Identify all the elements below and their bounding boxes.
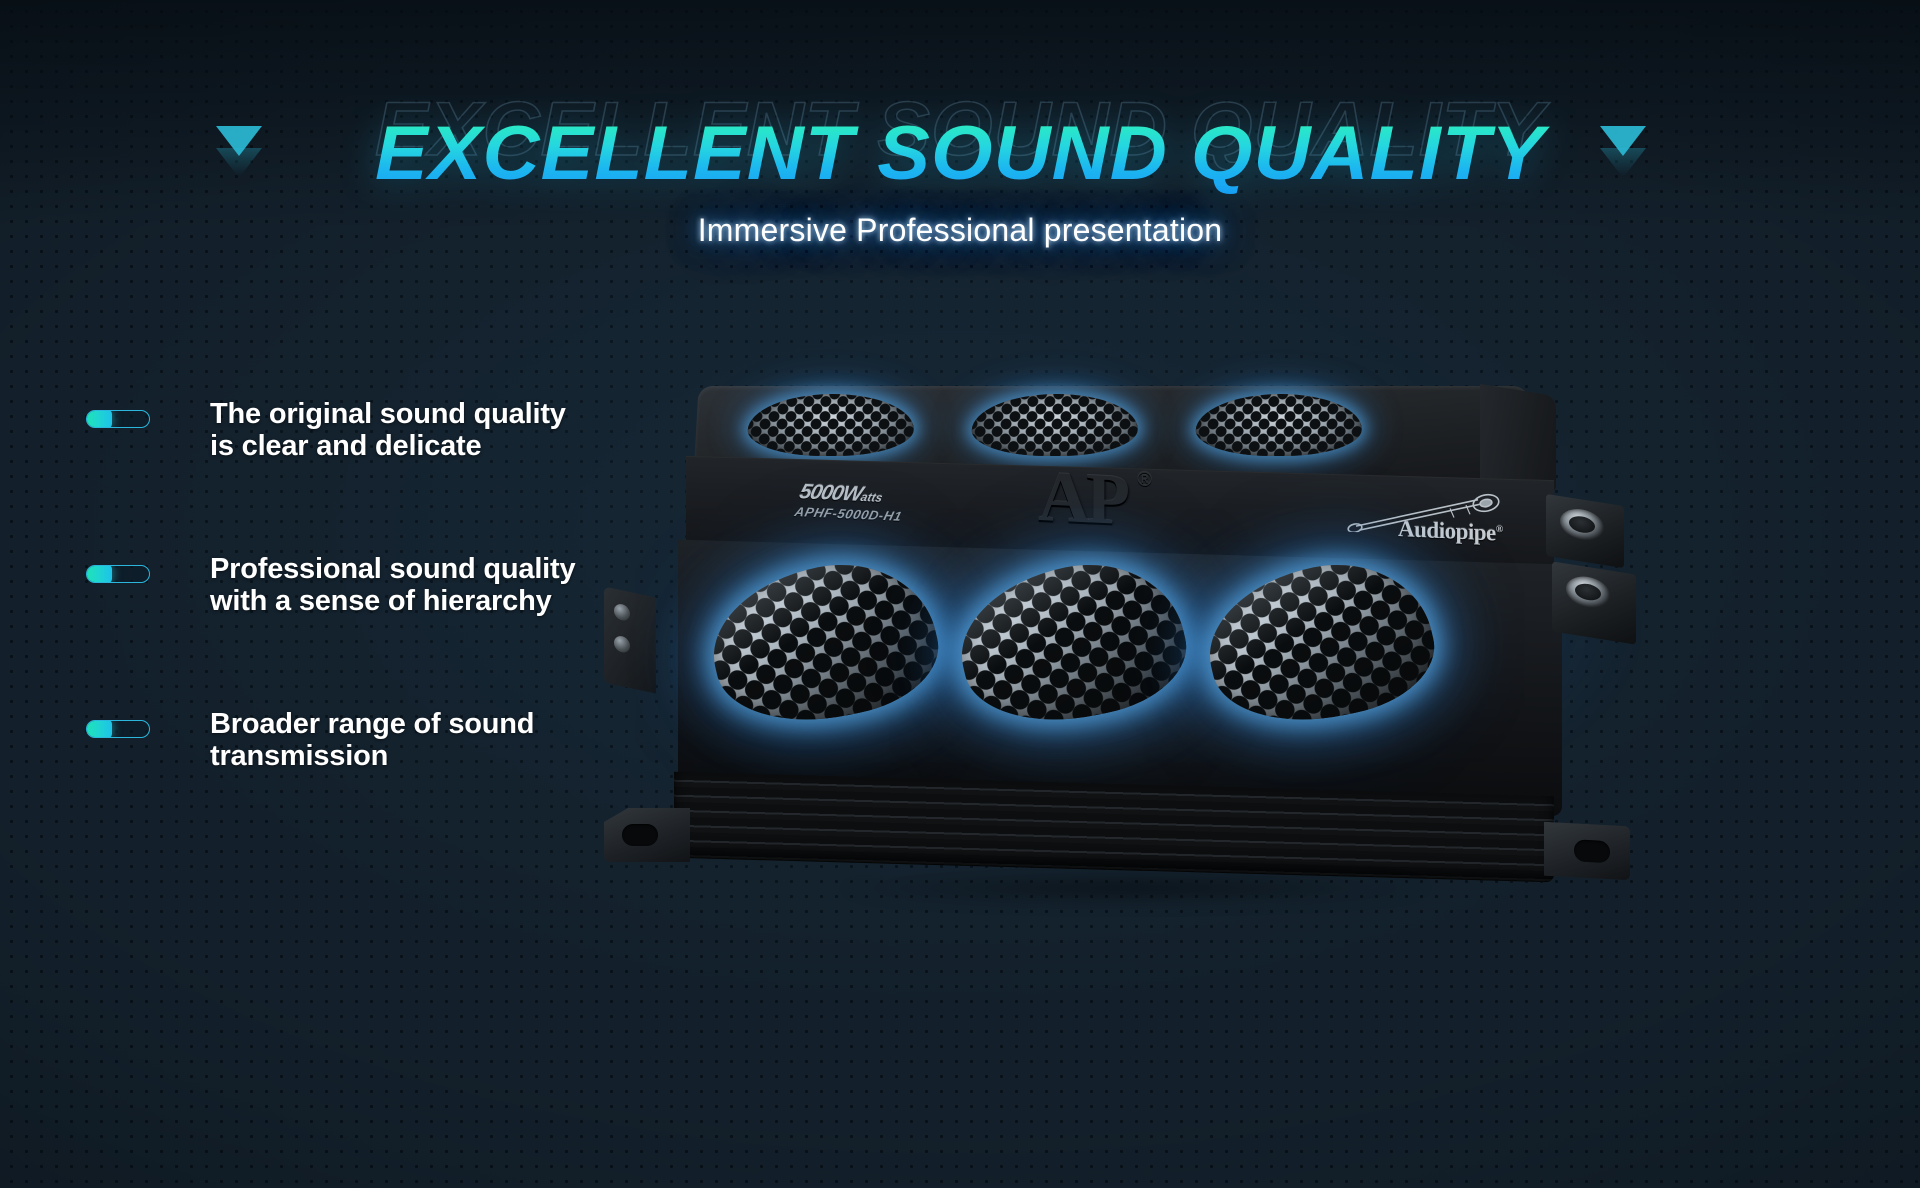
mounting-slot [622,824,658,846]
feature-item: Broader range of sound transmission [0,708,700,773]
power-terminal-icon [1552,561,1636,644]
pill-fill [86,720,112,738]
brand-wordmark-text: Audiopipe® [1398,516,1503,547]
feature-list: The original sound quality is clear and … [0,398,700,773]
brand-mark-ap: AP ® [1038,460,1126,536]
honeycomb-grille-icon [970,394,1139,456]
brand-wordmark-label: Audiopipe [1398,516,1496,545]
feature-line-1: The original sound quality [210,398,566,430]
power-terminal-icon [1546,494,1624,568]
power-rating-value: 5000W [797,480,864,506]
feature-line-2: with a sense of hierarchy [210,585,575,617]
chevron-down-icon [216,148,262,178]
feature-line-1: Broader range of sound [210,708,534,740]
honeycomb-holes [970,394,1139,456]
pill-progress-icon [86,720,150,738]
power-rating-block: 5000Watts APHF-5000D-H1 [793,481,909,523]
product-drop-shadow [720,868,1550,908]
feature-text: The original sound quality is clear and … [210,398,566,463]
honeycomb-holes [746,394,915,456]
chevron-down-icon [1600,148,1646,178]
brand-mark-text: AP [1038,460,1126,536]
feature-line-1: Professional sound quality [210,553,575,585]
amplifier-chassis: 5000Watts APHF-5000D-H1 AP ® [600,372,1920,902]
registered-trademark-icon: ® [1496,524,1503,535]
feature-line-2: is clear and delicate [210,430,566,462]
mounting-foot-right [1544,822,1630,881]
feature-item: Professional sound quality with a sense … [0,553,700,618]
feature-line-2: transmission [210,740,534,772]
terminal-screw [1560,506,1604,543]
feature-item: The original sound quality is clear and … [0,398,700,463]
honeycomb-grille-icon [1194,394,1363,456]
feature-text: Professional sound quality with a sense … [210,553,575,618]
mounting-foot-left [604,808,690,862]
header-title-block: EXCELLENT SOUND QUALITY EXCELLENT SOUND … [0,104,1920,214]
power-rating-unit: atts [859,490,884,505]
terminal-screw [1566,574,1610,611]
pill-fill [86,410,112,428]
pill-progress-icon [86,565,150,583]
mounting-slot [1574,839,1610,863]
screw-icon [614,603,630,622]
honeycomb-holes [1194,394,1363,456]
power-rating: 5000Watts [797,481,909,507]
double-chevron-down-icon-right [1600,126,1646,178]
page-subtitle: Immersive Professional presentation [0,212,1920,249]
honeycomb-grille-icon [746,394,915,456]
registered-trademark-icon: ® [1137,468,1152,492]
screw-icon [614,635,630,654]
mounting-bracket-icon-left [604,586,656,693]
model-number: APHF-5000D-H1 [793,505,903,523]
double-chevron-down-icon-left [216,126,262,178]
product-image-amplifier: 5000Watts APHF-5000D-H1 AP ® [600,372,1920,902]
amplifier-top-deck-right [1480,384,1556,492]
banner-stage: EXCELLENT SOUND QUALITY EXCELLENT SOUND … [0,0,1920,1188]
brand-wordmark-audiopipe: Audiopipe® [1346,488,1534,555]
feature-text: Broader range of sound transmission [210,708,534,773]
pill-fill [86,565,112,583]
pill-progress-icon [86,410,150,428]
